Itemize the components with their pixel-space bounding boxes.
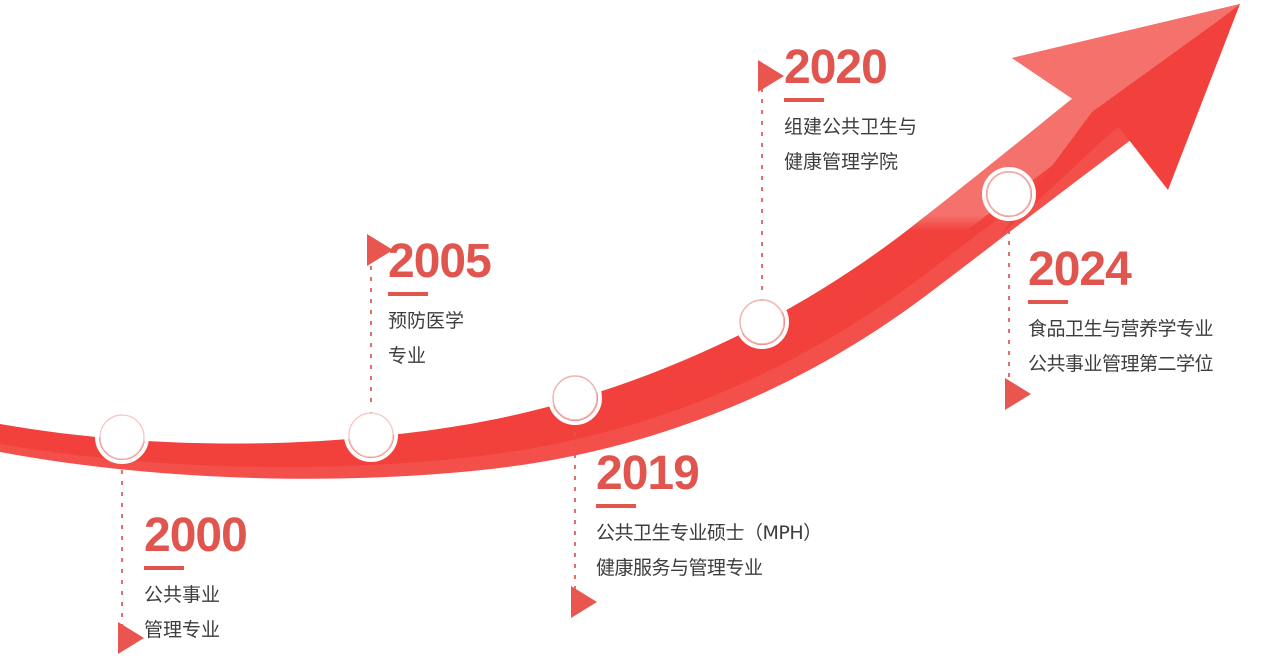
milestone-2024[interactable]: 2024 食品卫生与营养学专业 公共事业管理第二学位 xyxy=(1028,246,1213,382)
year-underline-2019 xyxy=(596,504,636,508)
milestone-2005[interactable]: 2005 预防医学 专业 xyxy=(388,238,491,374)
milestone-year-2019: 2019 xyxy=(596,450,822,498)
triangle-right-icon-2024 xyxy=(1005,378,1031,410)
year-underline-2020 xyxy=(784,98,824,102)
milestone-2020[interactable]: 2020 组建公共卫生与 健康管理学院 xyxy=(784,44,917,180)
node-marker-2024 xyxy=(984,169,1034,219)
milestone-year-2005: 2005 xyxy=(388,238,491,286)
triangle-right-icon-2020 xyxy=(758,60,784,92)
triangle-right-icon-2019 xyxy=(571,586,597,618)
year-underline-2000 xyxy=(144,566,184,570)
node-marker-2019 xyxy=(550,373,600,423)
milestone-desc-2000-line2: 管理专业 xyxy=(144,613,247,648)
milestone-year-2024: 2024 xyxy=(1028,246,1213,294)
node-marker-2000 xyxy=(97,412,147,462)
milestone-desc-2019-line2: 健康服务与管理专业 xyxy=(596,551,822,586)
milestone-desc-2000-line1: 公共事业 xyxy=(144,578,247,613)
milestone-2019[interactable]: 2019 公共卫生专业硕士（MPH） 健康服务与管理专业 xyxy=(596,450,822,586)
milestone-desc-2020-line2: 健康管理学院 xyxy=(784,145,917,180)
triangle-right-icon-2000 xyxy=(118,622,144,654)
year-underline-2024 xyxy=(1028,300,1068,304)
milestone-desc-2005-line1: 预防医学 xyxy=(388,304,491,339)
node-marker-2020 xyxy=(737,297,787,347)
year-underline-2005 xyxy=(388,292,428,296)
milestone-desc-2005-line2: 专业 xyxy=(388,339,491,374)
milestone-desc-2024-line2: 公共事业管理第二学位 xyxy=(1028,347,1213,382)
milestone-desc-2024-line1: 食品卫生与营养学专业 xyxy=(1028,312,1213,347)
milestone-desc-2020-line1: 组建公共卫生与 xyxy=(784,110,917,145)
milestone-2000[interactable]: 2000 公共事业 管理专业 xyxy=(144,512,247,648)
milestone-year-2020: 2020 xyxy=(784,44,917,92)
timeline-infographic: 2000 公共事业 管理专业 2005 预防医学 专业 2019 公共卫生专业硕… xyxy=(0,0,1268,659)
milestone-year-2000: 2000 xyxy=(144,512,247,560)
node-marker-2005 xyxy=(346,410,396,460)
milestone-desc-2019-line1: 公共卫生专业硕士（MPH） xyxy=(596,516,822,551)
